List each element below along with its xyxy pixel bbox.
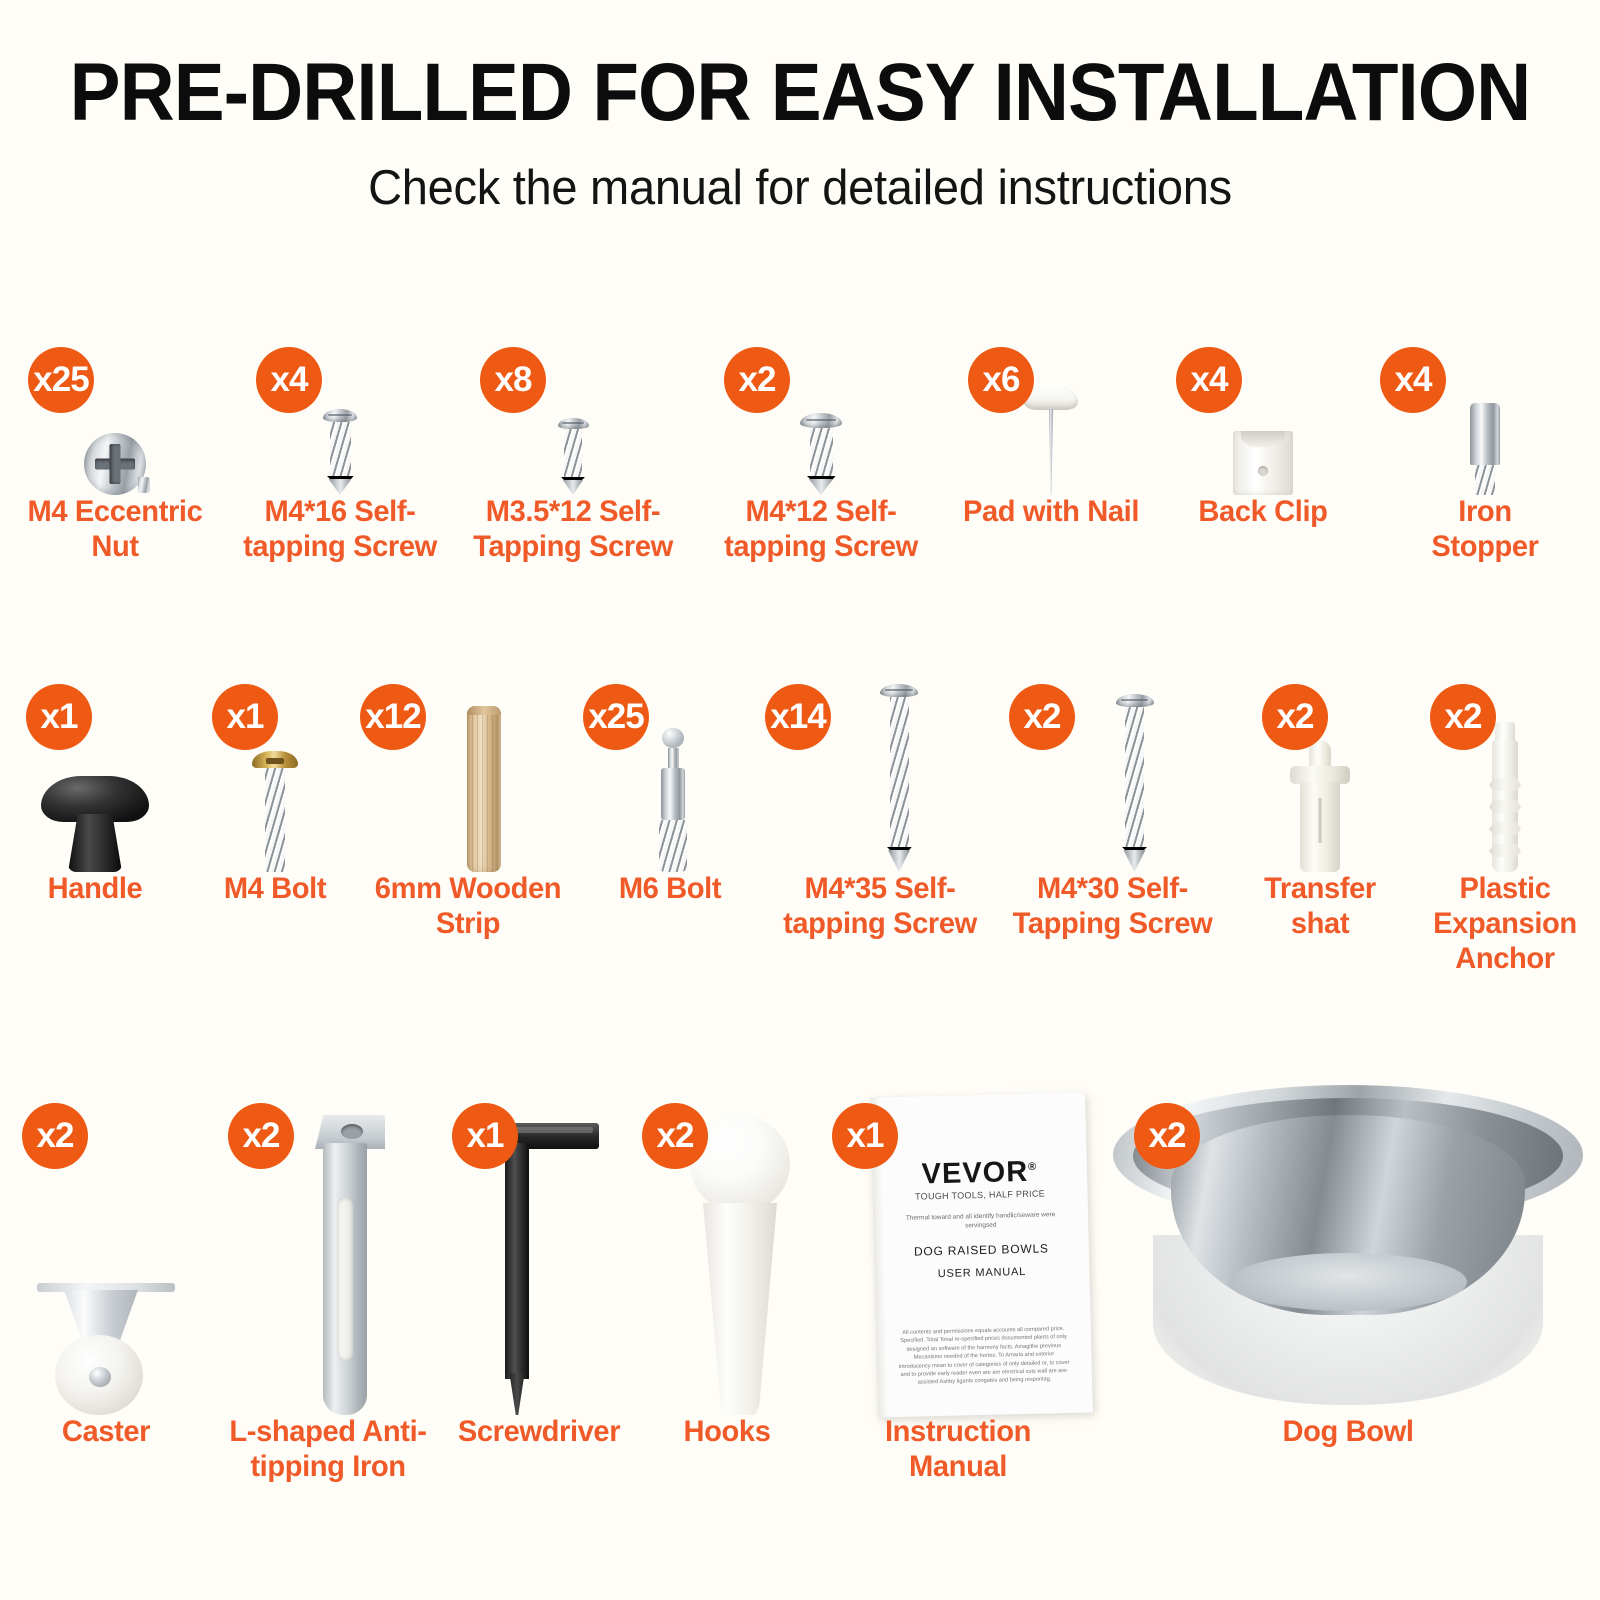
manual-product-title: DOG RAISED BOWLS (873, 1240, 1088, 1259)
part-label: M4*16 Self-tapping Screw (243, 495, 437, 565)
quantity-badge: x2 (724, 347, 790, 413)
part-cell-plastic-anchor: x2 Plastic Expansion Anchor (1410, 672, 1600, 1032)
part-cell-l-bracket: x2 L-shaped Anti-tipping Iron (212, 1095, 444, 1565)
part-label: M4*30 Self-Tapping Screw (1003, 872, 1221, 942)
quantity-badge: x25 (583, 684, 649, 750)
transfer-shaft-icon (1290, 740, 1350, 872)
quantity-badge: x2 (1262, 684, 1328, 750)
long-screw-icon (880, 684, 918, 872)
part-label: Screwdriver (449, 1415, 629, 1450)
quantity-badge: x2 (228, 1103, 294, 1169)
allen-key-icon (479, 1123, 599, 1415)
long-screw-icon (1116, 694, 1154, 872)
part-cell-pad-with-nail: x6 Pad with Nail (946, 330, 1156, 630)
part-cell-instruction-manual: x1 VEVOR® TOUGH TOOLS, HALF PRICE Therma… (820, 1095, 1096, 1565)
part-label: M4*12 Self-tapping Screw (711, 495, 930, 565)
manual-doc-type: USER MANUAL (874, 1264, 1089, 1281)
part-cell-hooks: x2 Hooks (634, 1095, 820, 1565)
part-cell-screwdriver: x1 Screwdriver (444, 1095, 634, 1565)
self-tapping-screw-icon (323, 409, 357, 495)
handle-knob-icon (41, 776, 149, 872)
part-cell-handle: x1 Handle (0, 672, 190, 1032)
part-label: Pad with Nail (959, 495, 1143, 530)
part-cell-iron-stopper: x4 Iron Stopper (1370, 330, 1600, 630)
part-cell-back-clip: x4 Back Clip (1156, 330, 1370, 630)
quantity-badge: x2 (22, 1103, 88, 1169)
part-cell-transfer-shaft: x2 Transfer shat (1230, 672, 1410, 1032)
part-image (0, 330, 230, 495)
parts-row-3: x2 Caster x2 L-shaped Anti-tipping Iron (0, 1095, 1600, 1565)
quantity-badge: x1 (212, 684, 278, 750)
part-image (450, 330, 696, 495)
part-cell-dog-bowl: x2 Dog Bowl (1096, 1095, 1600, 1565)
quantity-badge: x2 (1009, 684, 1075, 750)
back-clip-icon (1233, 431, 1293, 495)
part-cell-m6-bolt: x25 M6 Bolt (575, 672, 765, 1032)
hook-peg-icon (681, 1115, 799, 1415)
quantity-badge: x2 (1430, 684, 1496, 750)
part-cell-m4-30-screw: x2 M4*30 Self-Tapping Screw (995, 672, 1230, 1032)
manual-fine-print-bottom: All contents and permissions equals acco… (897, 1325, 1069, 1388)
manual-fine-print-top: Thermal toward and all identify handlic/… (891, 1211, 1070, 1233)
part-cell-caster: x2 Caster (0, 1095, 212, 1565)
part-label: Plastic Expansion Anchor (1418, 872, 1593, 976)
part-label: 6mm Wooden Strip (371, 872, 565, 942)
header-block: PRE-DRILLED FOR EASY INSTALLATION Check … (0, 0, 1600, 216)
self-tapping-screw-icon (558, 418, 589, 495)
plastic-anchor-icon (1488, 722, 1522, 872)
part-label: Caster (9, 1415, 203, 1450)
part-cell-m4-bolt: x1 M4 Bolt (190, 672, 360, 1032)
part-label: Transfer shat (1238, 872, 1403, 942)
bolt-icon (252, 751, 298, 872)
quantity-badge: x4 (1176, 347, 1242, 413)
part-label: M4*35 Self-tapping Screw (773, 872, 986, 942)
part-image (696, 330, 946, 495)
part-label: Handle (8, 872, 183, 907)
part-cell-m4-12-screw: x2 M4*12 Self-tapping Screw (696, 330, 946, 630)
part-label: L-shaped Anti-tipping Iron (218, 1415, 437, 1485)
infographic-sheet: PRE-DRILLED FOR EASY INSTALLATION Check … (0, 0, 1600, 1600)
part-cell-m35-12-screw: x8 M3.5*12 Self-Tapping Screw (450, 330, 696, 630)
part-label: Instruction Manual (846, 1415, 1069, 1485)
part-cell-wooden-strip: x12 6mm Wooden Strip (360, 672, 575, 1032)
caster-wheel-icon (37, 1283, 175, 1415)
part-label: Iron Stopper (1403, 495, 1568, 565)
part-label: M4 Eccentric Nut (18, 495, 212, 565)
part-label: M3.5*12 Self-Tapping Screw (463, 495, 682, 565)
parts-row-1: x25 M4 Eccentric Nut x4 M4*16 Self-tappi… (0, 330, 1600, 630)
quantity-badge: x2 (1134, 1103, 1200, 1169)
quantity-badge: x4 (1380, 347, 1446, 413)
part-cell-m4-16-screw: x4 M4*16 Self-tapping Screw (230, 330, 450, 630)
instruction-manual-icon: VEVOR® TOUGH TOOLS, HALF PRICE Thermal t… (870, 1092, 1093, 1417)
part-cell-m4-35-screw: x14 M4*35 Self-tapping Screw (765, 672, 995, 1032)
eccentric-nut-icon (84, 433, 146, 495)
part-label: Dog Bowl (1154, 1415, 1542, 1450)
quantity-badge: x2 (642, 1103, 708, 1169)
part-label: Hooks (640, 1415, 815, 1450)
page-subtitle: Check the manual for detailed instructio… (32, 160, 1568, 216)
part-label: M4 Bolt (197, 872, 352, 907)
part-label: Back Clip (1169, 495, 1357, 530)
pad-with-nail-icon (1024, 384, 1078, 495)
quantity-badge: x4 (256, 347, 322, 413)
iron-stopper-icon (1470, 403, 1500, 495)
quantity-badge: x1 (832, 1103, 898, 1169)
quantity-badge: x12 (360, 684, 426, 750)
cam-bolt-icon (659, 728, 687, 872)
quantity-badge: x1 (452, 1103, 518, 1169)
wooden-dowel-icon (467, 706, 501, 872)
self-tapping-screw-icon (800, 413, 842, 495)
quantity-badge: x25 (28, 347, 94, 413)
page-title: PRE-DRILLED FOR EASY INSTALLATION (56, 52, 1544, 134)
part-cell-eccentric-nut: x25 M4 Eccentric Nut (0, 330, 230, 630)
quantity-badge: x6 (968, 347, 1034, 413)
manual-brand-logo: VEVOR® (871, 1154, 1087, 1192)
l-bracket-icon (311, 1115, 385, 1415)
part-label: M6 Bolt (583, 872, 758, 907)
parts-row-2: x1 Handle x1 M4 Bolt x12 (0, 672, 1600, 1032)
part-image (230, 330, 450, 495)
quantity-badge: x8 (480, 347, 546, 413)
quantity-badge: x1 (26, 684, 92, 750)
part-image (946, 330, 1156, 495)
quantity-badge: x14 (765, 684, 831, 750)
